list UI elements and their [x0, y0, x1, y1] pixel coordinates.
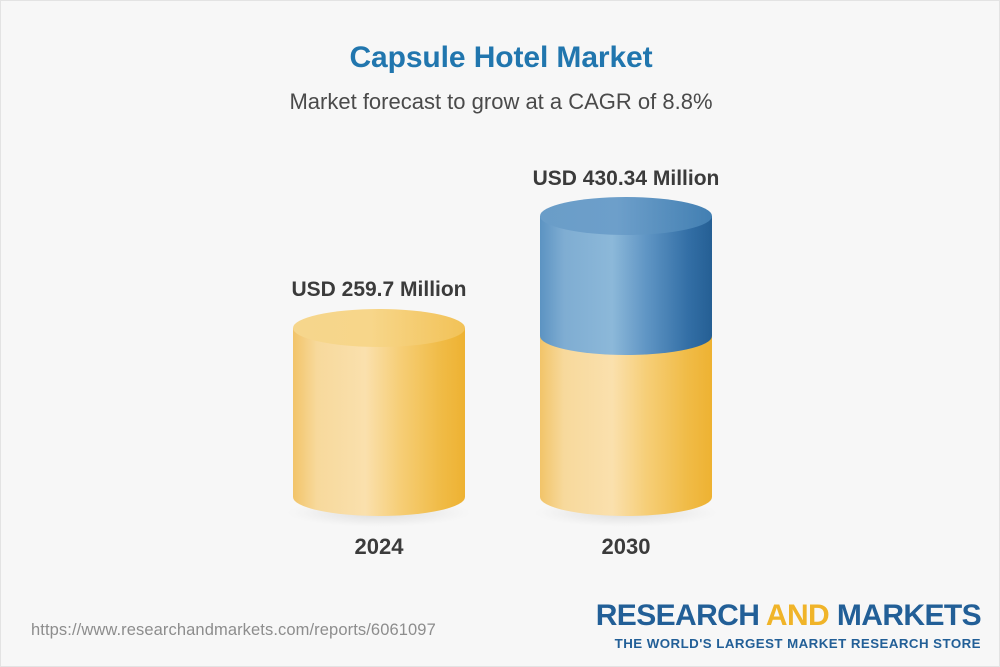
source-url[interactable]: https://www.researchandmarkets.com/repor…	[31, 621, 436, 640]
chart-figure: Capsule Hotel Market Market forecast to …	[0, 0, 1000, 667]
logo-wordmark: RESEARCH AND MARKETS	[596, 601, 981, 631]
value-label-2030: USD 430.34 Million	[426, 167, 826, 191]
bar-body-2024	[293, 328, 465, 516]
logo-tagline: THE WORLD'S LARGEST MARKET RESEARCH STOR…	[596, 636, 981, 651]
category-label-2030: 2030	[526, 534, 726, 560]
category-label-2024: 2024	[279, 534, 479, 560]
research-and-markets-logo[interactable]: RESEARCH AND MARKETS THE WORLD'S LARGEST…	[596, 601, 981, 651]
value-label-2024: USD 259.7 Million	[179, 278, 579, 302]
bar-body-base-2030	[540, 336, 712, 516]
bar-top-ellipse-2030	[540, 197, 712, 235]
bar-cylinder-2024	[293, 309, 465, 516]
plot-area: USD 259.7 Million USD 430.34 Million 202…	[1, 1, 1000, 601]
bar-cylinder-2030	[540, 197, 712, 516]
logo-word-markets: MARKETS	[837, 599, 981, 632]
logo-word-and: AND	[766, 599, 829, 632]
bar-top-ellipse-2024	[293, 309, 465, 347]
logo-word-research: RESEARCH	[596, 599, 760, 632]
